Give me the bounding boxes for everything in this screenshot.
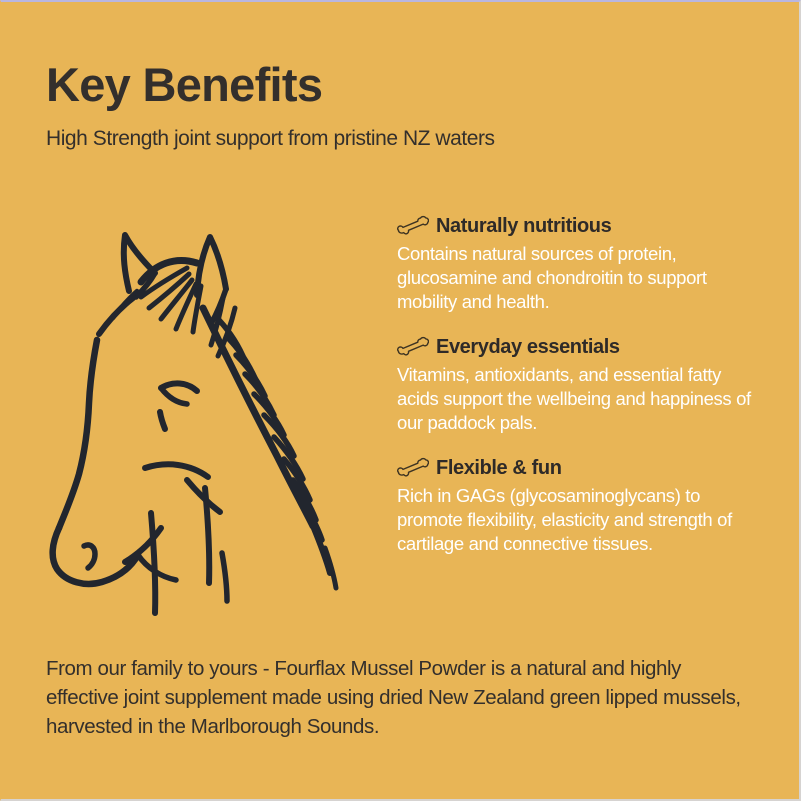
benefit-heading: Everyday essentials xyxy=(436,336,620,359)
benefit-heading: Flexible & fun xyxy=(436,457,562,480)
benefit-body: Rich in GAGs (glycosaminoglycans) to pro… xyxy=(397,484,767,556)
footer-paragraph: From our family to yours - Fourflax Muss… xyxy=(46,654,758,741)
benefit-body: Contains natural sources of protein, glu… xyxy=(397,242,767,314)
header: Key Benefits High Strength joint support… xyxy=(46,60,766,151)
page-title: Key Benefits xyxy=(46,60,766,110)
benefit-heading-row: Everyday essentials xyxy=(397,335,769,359)
benefit-heading-row: Naturally nutritious xyxy=(397,214,769,238)
benefit-item-naturally-nutritious: Naturally nutritious Contains natural so… xyxy=(397,214,769,314)
benefits-list: Naturally nutritious Contains natural so… xyxy=(397,214,769,556)
page-subtitle: High Strength joint support from pristin… xyxy=(46,126,766,151)
benefit-heading-row: Flexible & fun xyxy=(397,456,769,480)
horse-head-illustration xyxy=(37,198,367,618)
bone-icon xyxy=(397,335,429,359)
benefit-item-everyday-essentials: Everyday essentials Vitamins, antioxidan… xyxy=(397,335,769,435)
bone-icon xyxy=(397,456,429,480)
benefit-item-flexible-and-fun: Flexible & fun Rich in GAGs (glycosamino… xyxy=(397,456,769,556)
bone-icon xyxy=(397,214,429,238)
benefit-body: Vitamins, antioxidants, and essential fa… xyxy=(397,363,767,435)
benefit-heading: Naturally nutritious xyxy=(436,215,611,238)
key-benefits-panel: Key Benefits High Strength joint support… xyxy=(0,0,801,801)
